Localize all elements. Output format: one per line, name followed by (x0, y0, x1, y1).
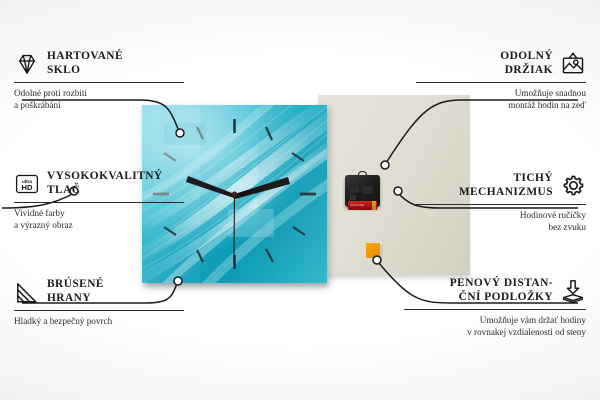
hatched-edge-icon (14, 279, 40, 305)
feature-description: Umožňuje snadnoumontáž hodin na zeď (416, 88, 586, 111)
feature-divider (14, 310, 184, 311)
picture-frame-icon (560, 51, 586, 77)
feature-header: HARTOVANÉSKLO (14, 50, 184, 77)
feature-header: ultra HD VYSOKOKVALITNÝTLAČ (14, 170, 184, 197)
ultra-hd-icon: ultra HD (14, 171, 40, 197)
diamond-icon (14, 51, 40, 77)
connector-dot-hanger (381, 161, 389, 169)
feature-description: Odolné proti rozbitía poškrábání (14, 88, 184, 111)
feature-divider (14, 82, 184, 83)
feature-divider (404, 309, 586, 310)
connector-dot-mechanism (394, 187, 402, 195)
feature-description: Umožňuje vám držať hodinyv rovnakej vzdi… (404, 315, 586, 338)
gear-icon (560, 173, 586, 199)
feature-silent-mechanism: TICHÝMECHANIZMUS Hodinové ručičkybez zvu… (416, 172, 586, 233)
feature-title: TICHÝMECHANIZMUS (459, 172, 553, 199)
feature-divider (14, 202, 184, 203)
svg-text:HD: HD (22, 183, 33, 192)
feature-title: PENOVÝ DISTAN-ČNÍ PODLOŽKY (450, 277, 553, 304)
connector-dot-pad (373, 256, 381, 264)
feature-high-quality-print: ultra HD VYSOKOKVALITNÝTLAČ Vividné farb… (14, 170, 184, 231)
feature-header: BRÚSENÉHRANY (14, 278, 184, 305)
feature-title: BRÚSENÉHRANY (47, 278, 104, 305)
feature-divider (416, 204, 586, 205)
connector-dot-glass (176, 129, 184, 137)
feature-description: Vividné farbya výrazný obraz (14, 208, 184, 231)
feature-header: ODOLNÝDRŽIAK (416, 50, 586, 77)
feature-durable-hanger: ODOLNÝDRŽIAK Umožňuje snadnoumontáž hodi… (416, 50, 586, 111)
feature-title: ODOLNÝDRŽIAK (500, 50, 553, 77)
feature-description: Hladký a bezpečný povrch (14, 316, 184, 327)
feature-foam-spacers: PENOVÝ DISTAN-ČNÍ PODLOŽKY Umožňuje vám … (404, 277, 586, 338)
feature-title: VYSOKOKVALITNÝTLAČ (47, 170, 163, 197)
feature-header: TICHÝMECHANIZMUS (416, 172, 586, 199)
feature-tempered-glass: HARTOVANÉSKLO Odolné proti rozbitía pošk… (14, 50, 184, 111)
feature-title: HARTOVANÉSKLO (47, 50, 123, 77)
feature-description: Hodinové ručičkybez zvuku (416, 210, 586, 233)
feature-ground-edges: BRÚSENÉHRANY Hladký a bezpečný povrch (14, 278, 184, 328)
press-down-pad-icon (560, 278, 586, 304)
feature-header: PENOVÝ DISTAN-ČNÍ PODLOŽKY (404, 277, 586, 304)
feature-divider (416, 82, 586, 83)
promo-infographic: ALKALINE (0, 0, 600, 400)
